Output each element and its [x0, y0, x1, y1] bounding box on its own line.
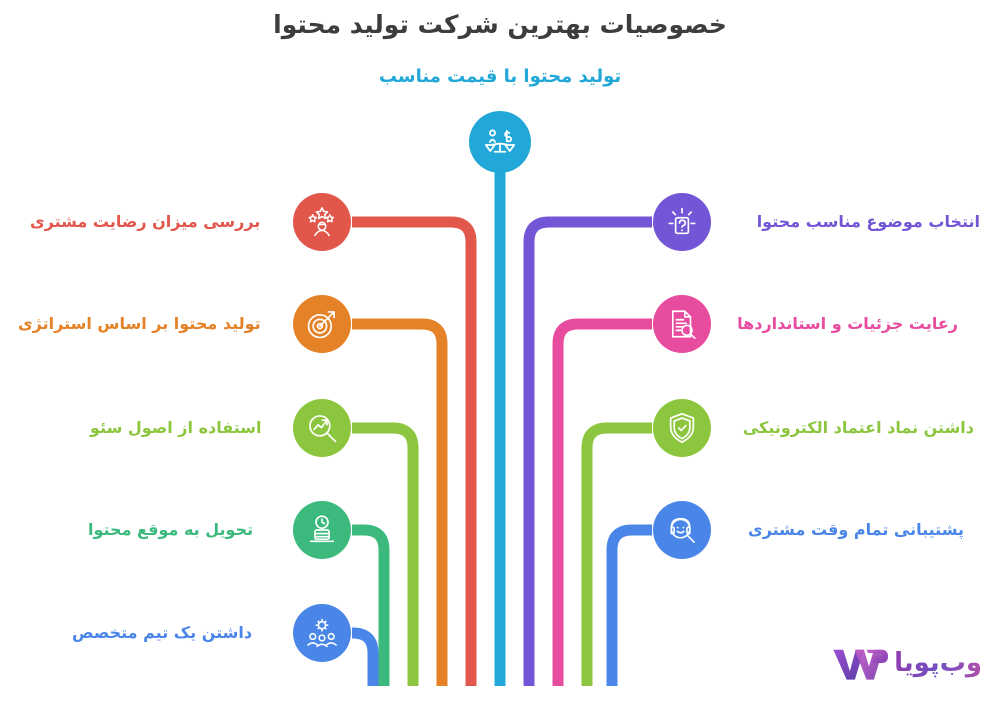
label-customer-satisfaction: بررسی میزان رضایت مشتری [30, 212, 282, 231]
node-etrust-badge[interactable] [653, 399, 711, 457]
document-magnifier-icon [665, 307, 699, 341]
label-topic-selection: انتخاب موضوع مناسب محتوا [724, 212, 980, 231]
infographic-canvas: خصوصیات بهترین شرکت تولید محتوا تولید مح… [0, 0, 1000, 709]
pipe-network [0, 0, 1000, 709]
node-details-standards[interactable] [653, 295, 711, 353]
node-seo-principles[interactable] [293, 399, 351, 457]
pipe-left-5 [352, 633, 373, 686]
node-strategy-content[interactable] [293, 295, 351, 353]
question-idea-icon [665, 205, 699, 239]
team-gear-icon [305, 616, 339, 650]
pipe-right-4 [612, 530, 652, 686]
node-topic-selection[interactable] [653, 193, 711, 251]
label-strategy-content: تولید محتوا بر اساس استراتژی [18, 314, 282, 333]
center-node-balance-scale[interactable] [469, 111, 531, 173]
label-seo-principles: استفاده از اصول سئو [90, 418, 282, 437]
clock-package-icon [305, 513, 339, 547]
shield-check-icon [665, 411, 699, 445]
node-24-7-support[interactable] [653, 501, 711, 559]
brand-logo[interactable]: وب‌پویا [812, 640, 982, 686]
node-expert-team[interactable] [293, 604, 351, 662]
pipe-right-2 [558, 324, 652, 686]
chart-magnifier-icon [305, 411, 339, 445]
label-details-standards: رعایت جزئیات و استانداردها [724, 314, 958, 333]
label-24-7-support: پشتیبانی تمام وقت مشتری [724, 520, 964, 539]
node-customer-satisfaction[interactable] [293, 193, 351, 251]
logo-wordmark: وب‌پویا [894, 648, 982, 678]
wp-monogram-icon [830, 643, 888, 683]
balance-scale-icon [482, 124, 518, 160]
label-on-time-delivery: تحویل به موقع محتوا [88, 520, 282, 539]
target-arrow-icon [305, 307, 339, 341]
label-expert-team: داشتن یک تیم متخصص [72, 623, 282, 642]
pipe-right-3 [587, 428, 652, 686]
headset-support-icon [665, 513, 699, 547]
person-stars-icon [305, 205, 339, 239]
node-on-time-delivery[interactable] [293, 501, 351, 559]
label-etrust-badge: داشتن نماد اعتماد الکترونیکی [724, 418, 974, 437]
